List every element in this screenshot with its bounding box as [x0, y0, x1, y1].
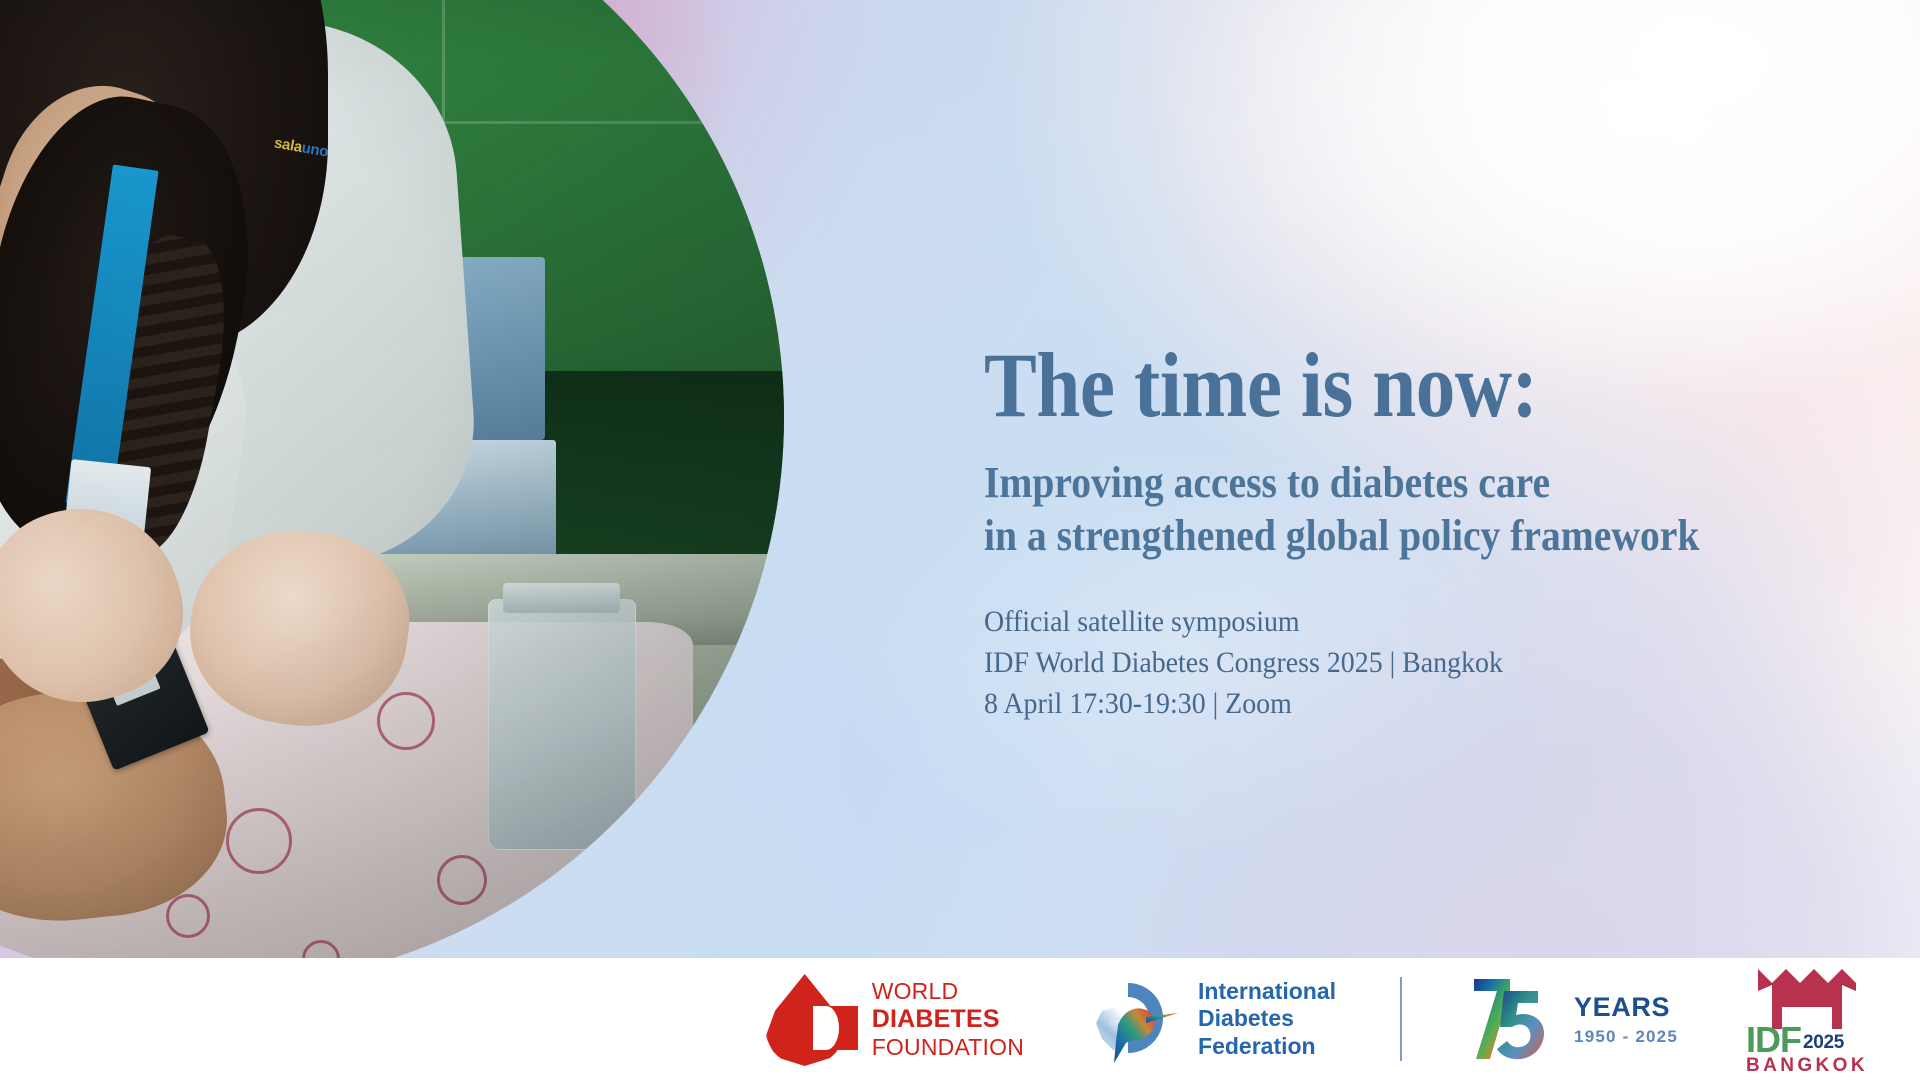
- blood-drop-icon: [766, 970, 858, 1068]
- bangkok-idf-text: IDF: [1746, 1023, 1801, 1056]
- drop-inner-white: [813, 1006, 839, 1050]
- hummingbird-svg: [1084, 973, 1184, 1065]
- logo-divider: [1400, 977, 1402, 1061]
- anniversary-wordmark: YEARS 1950 - 2025: [1574, 992, 1678, 1047]
- years-range: 1950 - 2025: [1574, 1027, 1678, 1047]
- logo-idf-75-years: YEARS 1950 - 2025: [1466, 971, 1678, 1067]
- wdf-line-1: WORLD: [872, 978, 1024, 1005]
- logo-world-diabetes-foundation: WORLD DIABETES FOUNDATION: [766, 970, 1024, 1068]
- idf-line-3: Federation: [1198, 1033, 1336, 1061]
- photo-circle: salauno: [0, 0, 784, 958]
- logo-idf-2025-bangkok: IDF 2025 BANGKOK: [1746, 967, 1868, 1071]
- wdf-line-3: FOUNDATION: [872, 1034, 1024, 1061]
- event-details-block: Official satellite symposium IDF World D…: [984, 601, 1821, 724]
- idf-wordmark: International Diabetes Federation: [1198, 978, 1336, 1061]
- logo-row: WORLD DIABETES FOUNDATION: [766, 967, 1868, 1071]
- subtitle-line-1: Improving access to diabetes care: [984, 456, 1794, 509]
- bangkok-city-text: BANGKOK: [1746, 1055, 1868, 1077]
- subtitle-block: Improving access to diabetes care in a s…: [984, 456, 1794, 562]
- clinic-photo: salauno: [0, 0, 784, 958]
- idf-line-1: International: [1198, 978, 1336, 1006]
- headline-block: The time is now: Improving access to dia…: [984, 340, 1884, 724]
- hummingbird-icon: [1084, 973, 1184, 1065]
- years-label: YEARS: [1574, 992, 1678, 1023]
- event-congress-location: IDF World Diabetes Congress 2025 | Bangk…: [984, 642, 1821, 683]
- subtitle-line-2: in a strengthened global policy framewor…: [984, 509, 1794, 562]
- event-type: Official satellite symposium: [984, 601, 1821, 642]
- page-title: The time is now:: [984, 340, 1758, 430]
- idf-line-2: Diabetes: [1198, 1005, 1336, 1033]
- bangkok-idf-row: IDF 2025: [1746, 1023, 1844, 1056]
- wdf-line-2: DIABETES: [872, 1005, 1024, 1034]
- event-datetime-platform: 8 April 17:30-19:30 | Zoom: [984, 683, 1821, 724]
- photo-vignette: [0, 0, 784, 958]
- bangkok-year-text: 2025: [1803, 1032, 1844, 1056]
- seventy-five-icon: [1466, 971, 1562, 1067]
- seventy-five-svg: [1466, 971, 1562, 1067]
- poster-canvas: salauno The time is now: Improving acces…: [0, 0, 1920, 1080]
- logo-international-diabetes-federation: International Diabetes Federation: [1084, 973, 1336, 1065]
- footer-logo-bar: WORLD DIABETES FOUNDATION: [0, 958, 1920, 1080]
- wdf-wordmark: WORLD DIABETES FOUNDATION: [872, 978, 1024, 1060]
